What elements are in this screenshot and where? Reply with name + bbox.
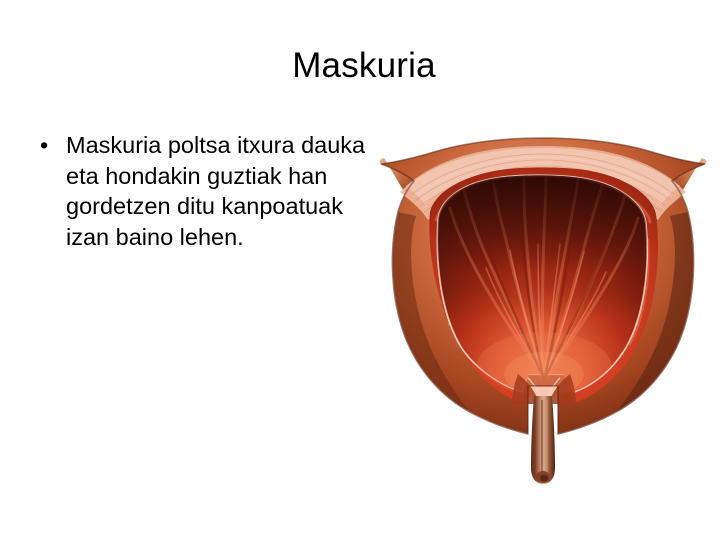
bullet-point-icon: •: [40, 130, 60, 161]
page-title: Maskuria: [0, 45, 728, 87]
urethra: [531, 396, 555, 484]
body-text-block: • Maskuria poltsa itxura dauka eta honda…: [34, 130, 374, 252]
list-item-label: Maskuria poltsa itxura dauka eta hondaki…: [66, 130, 374, 252]
bladder-illustration: [378, 128, 708, 488]
slide: Maskuria • Maskuria poltsa itxura dauka …: [0, 0, 728, 546]
list-item: • Maskuria poltsa itxura dauka eta honda…: [34, 130, 374, 252]
bladder-diagram-svg: [378, 128, 708, 488]
